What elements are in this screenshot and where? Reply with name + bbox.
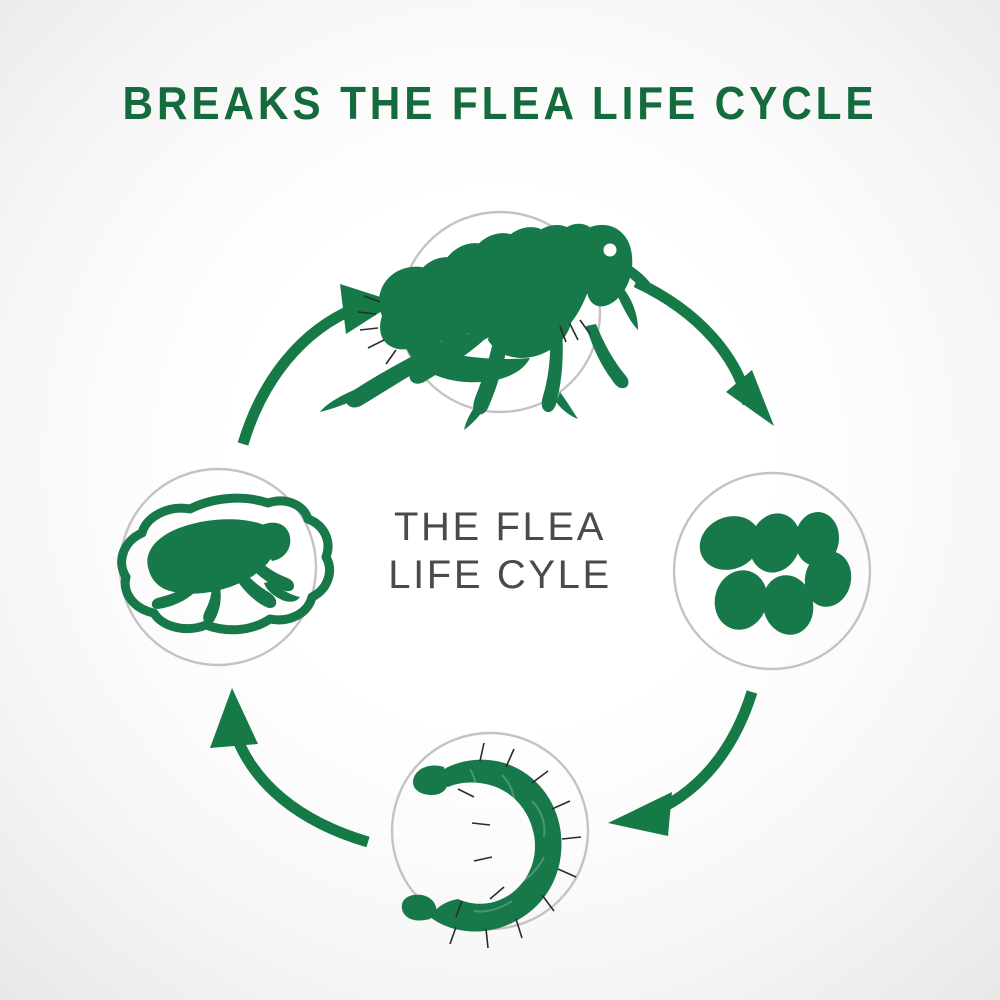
- arrow-pupa-to-adult: [243, 284, 396, 444]
- center-caption-line-2: LIFE CYLE: [330, 551, 670, 599]
- infographic-canvas: BREAKS THE FLEA LIFE CYCLE: [0, 0, 1000, 1000]
- flea-eggs-icon: [691, 507, 856, 641]
- arrow-eggs-to-larva: [608, 692, 752, 836]
- flea-larva-icon: [402, 743, 581, 948]
- center-caption-line-1: THE FLEA: [330, 503, 670, 551]
- center-caption: THE FLEA LIFE CYLE: [330, 503, 670, 599]
- flea-pupa-icon: [122, 498, 330, 630]
- adult-flea-icon: [320, 224, 658, 430]
- arrow-adult-to-eggs: [636, 282, 774, 426]
- cycle-diagram: [0, 0, 1000, 1000]
- arrow-larva-to-pupa: [210, 688, 368, 842]
